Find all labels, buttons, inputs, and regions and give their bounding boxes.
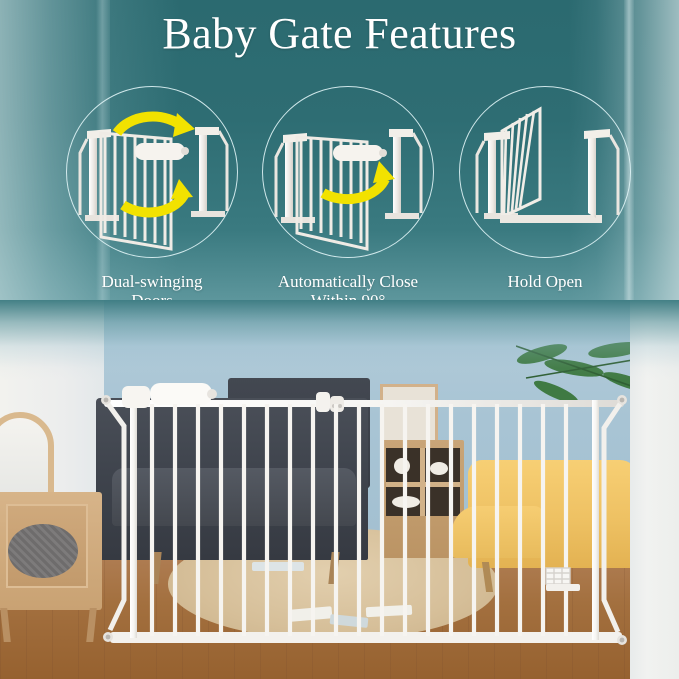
page-title: Baby Gate Features xyxy=(0,8,679,60)
cabinet-woven-inset xyxy=(8,524,78,578)
gate-hold-open-illustration xyxy=(460,87,632,259)
scattered-paper xyxy=(252,562,304,571)
feature-row: Dual-swinging Doors xyxy=(0,86,679,306)
product-photo-scene xyxy=(0,300,679,679)
feature-circle-outline xyxy=(262,86,434,258)
feature-hold-open: Hold Open xyxy=(447,86,643,291)
feature-caption-line-1: Automatically Close xyxy=(250,272,446,291)
feature-caption-line-1: Dual-swinging xyxy=(54,272,250,291)
gate-auto-close-illustration xyxy=(263,87,435,259)
feature-dual-swinging-doors: Dual-swinging Doors xyxy=(54,86,250,310)
feature-circle-outline xyxy=(66,86,238,258)
baby-gate-feature-poster: Baby Gate Features xyxy=(0,0,679,679)
right-white-wall xyxy=(630,300,679,679)
shelf-dish xyxy=(430,462,448,475)
gate-dual-swing-illustration xyxy=(67,87,239,259)
armchair-arm xyxy=(452,506,544,558)
feature-automatically-close: Automatically Close Within 90° xyxy=(250,86,446,310)
feature-caption: Hold Open xyxy=(447,272,643,291)
shelf-dish xyxy=(392,496,420,508)
shelf-dish xyxy=(394,458,410,474)
feature-caption-line-1: Hold Open xyxy=(447,272,643,291)
feature-circle-outline xyxy=(459,86,631,258)
shelf-divider-vertical xyxy=(420,448,425,516)
sofa-seat-cushion xyxy=(112,468,356,526)
